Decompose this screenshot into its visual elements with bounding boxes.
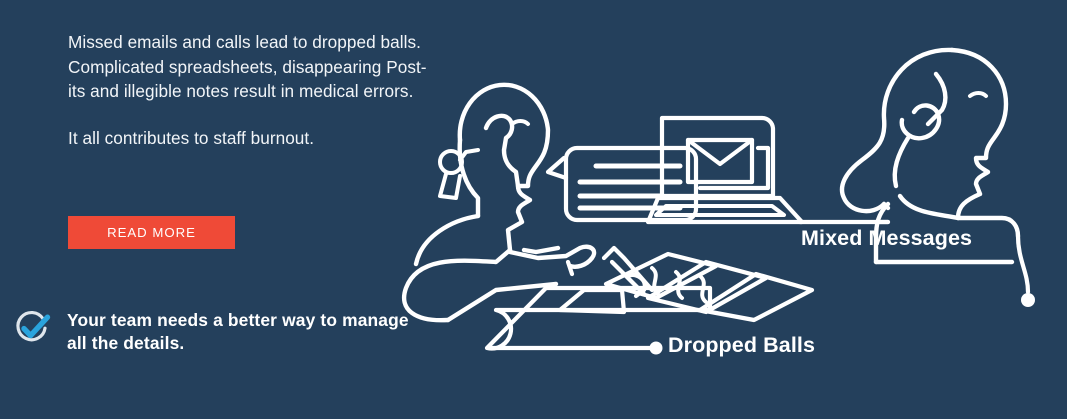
tagline-row: Your team needs a better way to manage a… [10, 306, 410, 355]
mixed-messages-leader [1018, 236, 1035, 307]
callout-label-mixed-messages: Mixed Messages [801, 226, 972, 251]
callout-label-dropped-balls: Dropped Balls [668, 333, 815, 358]
speech-bubble [548, 148, 696, 220]
dropped-balls-leader [490, 342, 663, 355]
body-paragraph-1: Missed emails and calls lead to dropped … [68, 30, 440, 104]
read-more-button[interactable]: READ MORE [68, 216, 235, 249]
laptop-with-email [648, 118, 802, 222]
body-paragraph-2: It all contributes to staff burnout. [68, 126, 440, 151]
tagline-text: Your team needs a better way to manage a… [67, 306, 410, 355]
promo-banner: Missed emails and calls lead to dropped … [0, 0, 1067, 419]
copy-column: Missed emails and calls lead to dropped … [68, 30, 440, 150]
check-circle-icon [10, 307, 54, 351]
